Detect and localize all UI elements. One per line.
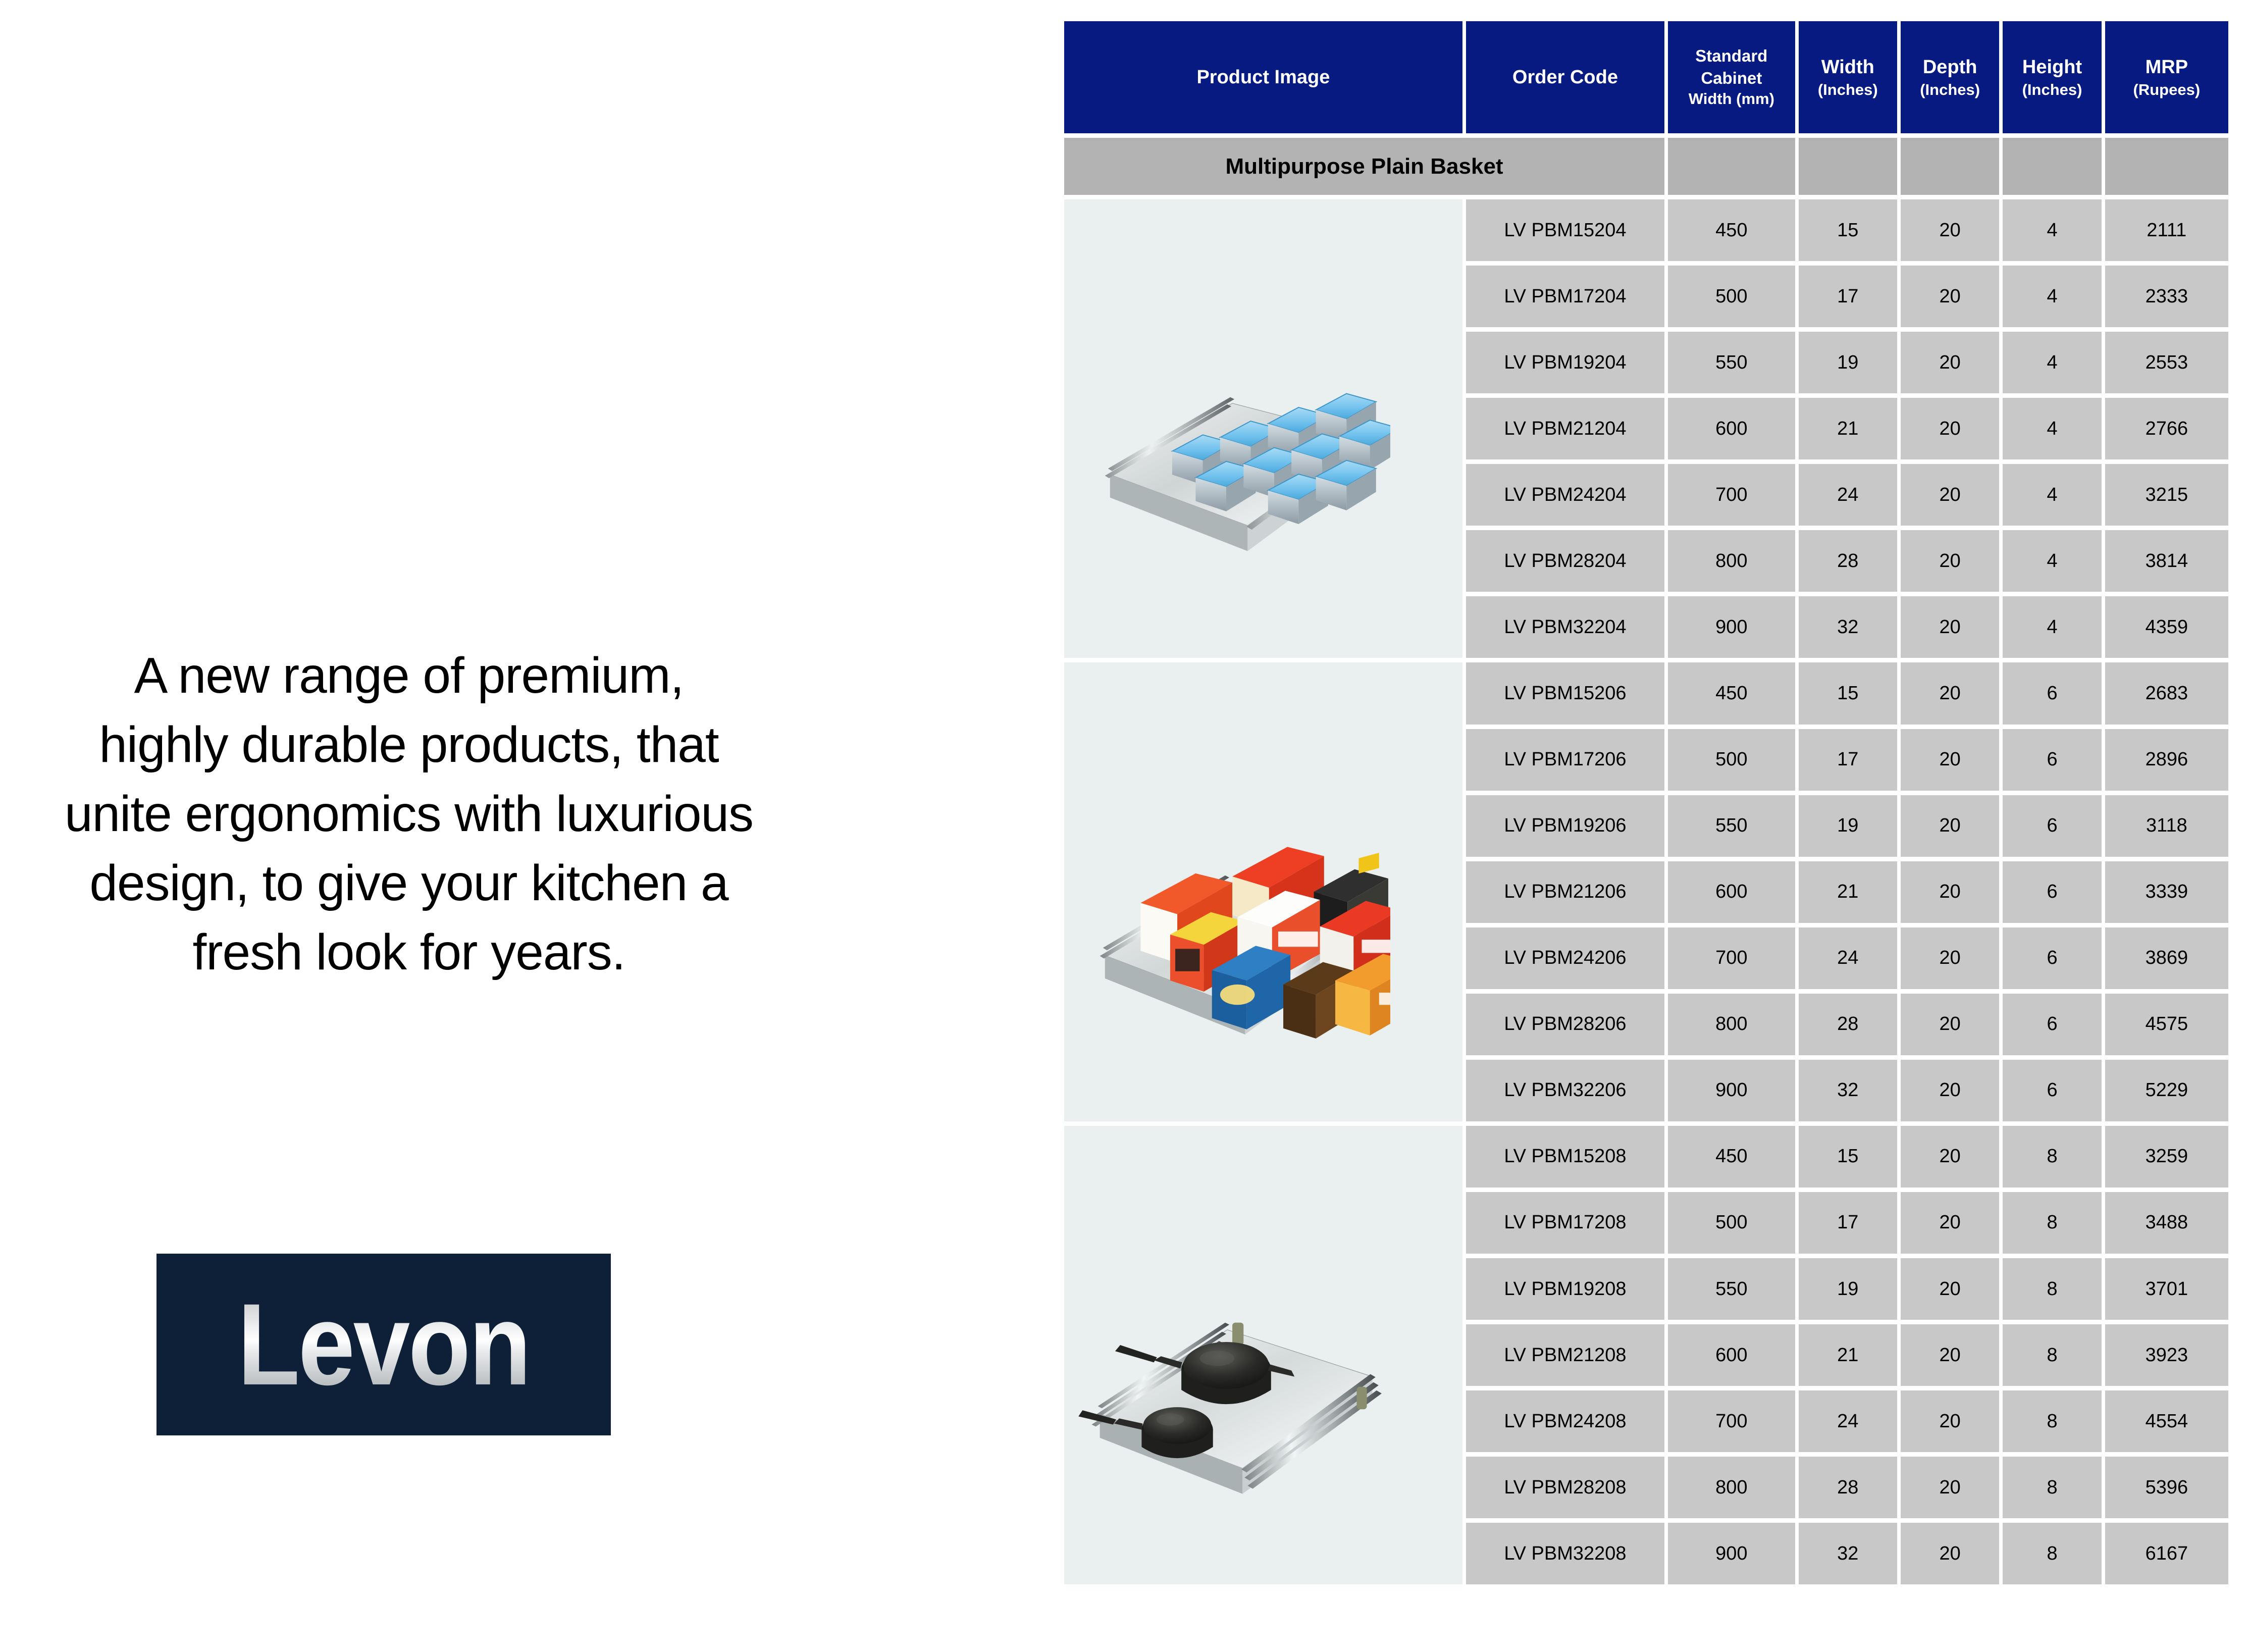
- cell-width: 24: [1799, 1390, 1897, 1452]
- cell-depth: 20: [1901, 199, 1999, 261]
- column-header-mrp-unit: (Rupees): [2105, 80, 2228, 100]
- column-header-order-code-label: Order Code: [1466, 65, 1664, 90]
- cell-height: 4: [2003, 398, 2101, 459]
- cell-cabinet: 900: [1668, 1060, 1795, 1121]
- cell-mrp: 2766: [2105, 398, 2228, 459]
- group-title: Multipurpose Plain Basket: [1064, 138, 1664, 195]
- group-header-spacer: [1799, 138, 1897, 195]
- cell-height: 4: [2003, 199, 2101, 261]
- table-row: LV PBM15206450152062683: [1064, 662, 2228, 724]
- multipurpose-plain-basket-with-grocery-boxes-image: [1064, 662, 1390, 1121]
- cell-width: 15: [1799, 199, 1897, 261]
- multipurpose-plain-basket-with-blue-containers-illustration: [1064, 199, 1390, 658]
- cell-mrp: 3339: [2105, 861, 2228, 923]
- cell-height: 8: [2003, 1390, 2101, 1452]
- group-header-spacer: [2003, 138, 2101, 195]
- cell-width: 19: [1799, 1258, 1897, 1320]
- cell-depth: 20: [1901, 398, 1999, 459]
- cell-mrp: 6167: [2105, 1523, 2228, 1584]
- cell-cabinet: 600: [1668, 398, 1795, 459]
- cell-height: 8: [2003, 1324, 2101, 1386]
- cell-mrp: 2333: [2105, 266, 2228, 327]
- cell-cabinet: 500: [1668, 266, 1795, 327]
- group-header-row: Multipurpose Plain Basket: [1064, 138, 2228, 195]
- cell-height: 6: [2003, 994, 2101, 1055]
- cell-cabinet: 900: [1668, 1523, 1795, 1584]
- table-body: Multipurpose Plain Basket: [1064, 138, 2228, 1584]
- cell-depth: 20: [1901, 1523, 1999, 1584]
- column-header-mrp-label: MRP: [2105, 55, 2228, 80]
- cell-order-code: LV PBM15208: [1466, 1126, 1664, 1188]
- cell-mrp: 3259: [2105, 1126, 2228, 1188]
- tagline-line-4: design, to give your kitchen a: [30, 849, 788, 918]
- cell-height: 6: [2003, 729, 2101, 791]
- multipurpose-plain-basket-with-cookware-illustration: [1064, 1126, 1390, 1584]
- multipurpose-plain-basket-with-grocery-boxes-illustration: [1064, 662, 1390, 1121]
- cell-cabinet: 600: [1668, 1324, 1795, 1386]
- cell-order-code: LV PBM28204: [1466, 530, 1664, 592]
- cell-height: 8: [2003, 1258, 2101, 1320]
- cell-depth: 20: [1901, 1126, 1999, 1188]
- cell-height: 8: [2003, 1523, 2101, 1584]
- cell-cabinet: 800: [1668, 530, 1795, 592]
- cell-mrp: 3701: [2105, 1258, 2228, 1320]
- cell-cabinet: 500: [1668, 1192, 1795, 1254]
- cell-order-code: LV PBM19208: [1466, 1258, 1664, 1320]
- cell-cabinet: 600: [1668, 861, 1795, 923]
- cell-depth: 20: [1901, 1390, 1999, 1452]
- cell-mrp: 2553: [2105, 332, 2228, 393]
- cell-mrp: 2896: [2105, 729, 2228, 791]
- cell-height: 6: [2003, 662, 2101, 724]
- cell-width: 15: [1799, 662, 1897, 724]
- cell-mrp: 2111: [2105, 199, 2228, 261]
- cell-height: 6: [2003, 1060, 2101, 1121]
- cell-order-code: LV PBM15204: [1466, 199, 1664, 261]
- cell-order-code: LV PBM21208: [1466, 1324, 1664, 1386]
- column-header-product-image: Product Image: [1064, 21, 1462, 133]
- group-header-spacer: [1901, 138, 1999, 195]
- column-header-width: Width (Inches): [1799, 21, 1897, 133]
- cell-cabinet: 550: [1668, 332, 1795, 393]
- column-header-depth: Depth (Inches): [1901, 21, 1999, 133]
- cell-depth: 20: [1901, 861, 1999, 923]
- cell-cabinet: 550: [1668, 795, 1795, 857]
- brand-logo: Levon: [156, 1254, 611, 1435]
- cell-width: 17: [1799, 266, 1897, 327]
- product-table: Product Image Order Code Standard Cabine…: [1061, 17, 2232, 1589]
- cell-width: 28: [1799, 994, 1897, 1055]
- cell-mrp: 4359: [2105, 596, 2228, 658]
- cell-height: 6: [2003, 795, 2101, 857]
- cell-order-code: LV PBM15206: [1466, 662, 1664, 724]
- cell-width: 17: [1799, 1192, 1897, 1254]
- cell-mrp: 3118: [2105, 795, 2228, 857]
- cell-width: 17: [1799, 729, 1897, 791]
- cell-depth: 20: [1901, 1060, 1999, 1121]
- cell-mrp: 4575: [2105, 994, 2228, 1055]
- cell-width: 28: [1799, 530, 1897, 592]
- cell-order-code: LV PBM17206: [1466, 729, 1664, 791]
- cell-mrp: 3488: [2105, 1192, 2228, 1254]
- table-row: LV PBM15208450152083259: [1064, 1126, 2228, 1188]
- cell-order-code: LV PBM28206: [1466, 994, 1664, 1055]
- cell-depth: 20: [1901, 332, 1999, 393]
- cell-height: 8: [2003, 1192, 2101, 1254]
- cell-order-code: LV PBM24204: [1466, 464, 1664, 526]
- multipurpose-plain-basket-with-cookware-image: [1064, 1126, 1390, 1584]
- cell-order-code: LV PBM32204: [1466, 596, 1664, 658]
- column-header-height: Height (Inches): [2003, 21, 2101, 133]
- brand-logo-text: Levon: [238, 1286, 530, 1403]
- cell-order-code: LV PBM24208: [1466, 1390, 1664, 1452]
- column-header-width-unit: (Inches): [1799, 80, 1897, 100]
- cell-depth: 20: [1901, 795, 1999, 857]
- cell-order-code: LV PBM24206: [1466, 927, 1664, 989]
- table-header-row: Product Image Order Code Standard Cabine…: [1064, 21, 2228, 133]
- cell-depth: 20: [1901, 530, 1999, 592]
- cell-order-code: LV PBM32206: [1466, 1060, 1664, 1121]
- cell-cabinet: 500: [1668, 729, 1795, 791]
- cell-order-code: LV PBM21204: [1466, 398, 1664, 459]
- cell-mrp: 3923: [2105, 1324, 2228, 1386]
- cell-height: 4: [2003, 464, 2101, 526]
- cell-width: 19: [1799, 795, 1897, 857]
- cell-depth: 20: [1901, 1457, 1999, 1518]
- cell-order-code: LV PBM19204: [1466, 332, 1664, 393]
- cell-cabinet: 450: [1668, 1126, 1795, 1188]
- product-image-cell: [1064, 1126, 1462, 1584]
- cell-depth: 20: [1901, 662, 1999, 724]
- product-image-cell: [1064, 662, 1462, 1121]
- left-panel: A new range of premium, highly durable p…: [0, 0, 1055, 1652]
- cell-width: 32: [1799, 1060, 1897, 1121]
- column-header-width-label: Width: [1799, 55, 1897, 80]
- cell-depth: 20: [1901, 266, 1999, 327]
- cell-order-code: LV PBM28208: [1466, 1457, 1664, 1518]
- cell-depth: 20: [1901, 927, 1999, 989]
- cell-depth: 20: [1901, 1324, 1999, 1386]
- cell-cabinet: 800: [1668, 994, 1795, 1055]
- group-header-spacer: [2105, 138, 2228, 195]
- column-header-order-code: Order Code: [1466, 21, 1664, 133]
- cell-width: 24: [1799, 927, 1897, 989]
- cell-width: 24: [1799, 464, 1897, 526]
- cell-depth: 20: [1901, 596, 1999, 658]
- column-header-standard-cabinet-width-label: Standard Cabinet: [1668, 45, 1795, 89]
- tagline-line-2: highly durable products, that: [30, 710, 788, 780]
- cell-depth: 20: [1901, 464, 1999, 526]
- column-header-depth-label: Depth: [1901, 55, 1999, 80]
- cell-width: 21: [1799, 1324, 1897, 1386]
- cell-height: 6: [2003, 861, 2101, 923]
- cell-depth: 20: [1901, 1192, 1999, 1254]
- cell-width: 21: [1799, 861, 1897, 923]
- cell-width: 32: [1799, 596, 1897, 658]
- cell-height: 8: [2003, 1126, 2101, 1188]
- cell-height: 4: [2003, 266, 2101, 327]
- cell-depth: 20: [1901, 729, 1999, 791]
- cell-height: 8: [2003, 1457, 2101, 1518]
- cell-order-code: LV PBM17204: [1466, 266, 1664, 327]
- cell-height: 4: [2003, 530, 2101, 592]
- column-header-height-label: Height: [2003, 55, 2101, 80]
- cell-order-code: LV PBM32208: [1466, 1523, 1664, 1584]
- cell-cabinet: 450: [1668, 199, 1795, 261]
- tagline-line-3: unite ergonomics with luxurious: [30, 780, 788, 849]
- cell-order-code: LV PBM21206: [1466, 861, 1664, 923]
- cell-mrp: 3215: [2105, 464, 2228, 526]
- tagline-line-1: A new range of premium,: [30, 641, 788, 710]
- group-header-spacer: [1668, 138, 1795, 195]
- cell-cabinet: 900: [1668, 596, 1795, 658]
- cell-order-code: LV PBM17208: [1466, 1192, 1664, 1254]
- cell-depth: 20: [1901, 994, 1999, 1055]
- column-header-standard-cabinet-width: Standard Cabinet Width (mm): [1668, 21, 1795, 133]
- cell-cabinet: 550: [1668, 1258, 1795, 1320]
- cell-order-code: LV PBM19206: [1466, 795, 1664, 857]
- multipurpose-plain-basket-with-blue-containers-image: [1064, 199, 1390, 658]
- cell-mrp: 4554: [2105, 1390, 2228, 1452]
- column-header-mrp: MRP (Rupees): [2105, 21, 2228, 133]
- cell-depth: 20: [1901, 1258, 1999, 1320]
- product-image-cell: [1064, 199, 1462, 658]
- cell-cabinet: 800: [1668, 1457, 1795, 1518]
- column-header-depth-unit: (Inches): [1901, 80, 1999, 100]
- column-header-standard-cabinet-width-unit: Width (mm): [1668, 89, 1795, 109]
- cell-mrp: 2683: [2105, 662, 2228, 724]
- cell-cabinet: 450: [1668, 662, 1795, 724]
- cell-width: 21: [1799, 398, 1897, 459]
- tagline-line-5: fresh look for years.: [30, 918, 788, 987]
- cell-height: 4: [2003, 332, 2101, 393]
- cell-cabinet: 700: [1668, 464, 1795, 526]
- cell-width: 15: [1799, 1126, 1897, 1188]
- cell-width: 19: [1799, 332, 1897, 393]
- table-row: LV PBM15204450152042111: [1064, 199, 2228, 261]
- cell-height: 6: [2003, 927, 2101, 989]
- column-header-product-image-label: Product Image: [1064, 65, 1462, 90]
- cell-mrp: 5229: [2105, 1060, 2228, 1121]
- cell-cabinet: 700: [1668, 927, 1795, 989]
- column-header-height-unit: (Inches): [2003, 80, 2101, 100]
- cell-width: 28: [1799, 1457, 1897, 1518]
- cell-mrp: 3869: [2105, 927, 2228, 989]
- tagline: A new range of premium, highly durable p…: [30, 641, 788, 987]
- cell-cabinet: 700: [1668, 1390, 1795, 1452]
- cell-height: 4: [2003, 596, 2101, 658]
- cell-width: 32: [1799, 1523, 1897, 1584]
- cell-mrp: 3814: [2105, 530, 2228, 592]
- cell-mrp: 5396: [2105, 1457, 2228, 1518]
- table-header: Product Image Order Code Standard Cabine…: [1064, 21, 2228, 133]
